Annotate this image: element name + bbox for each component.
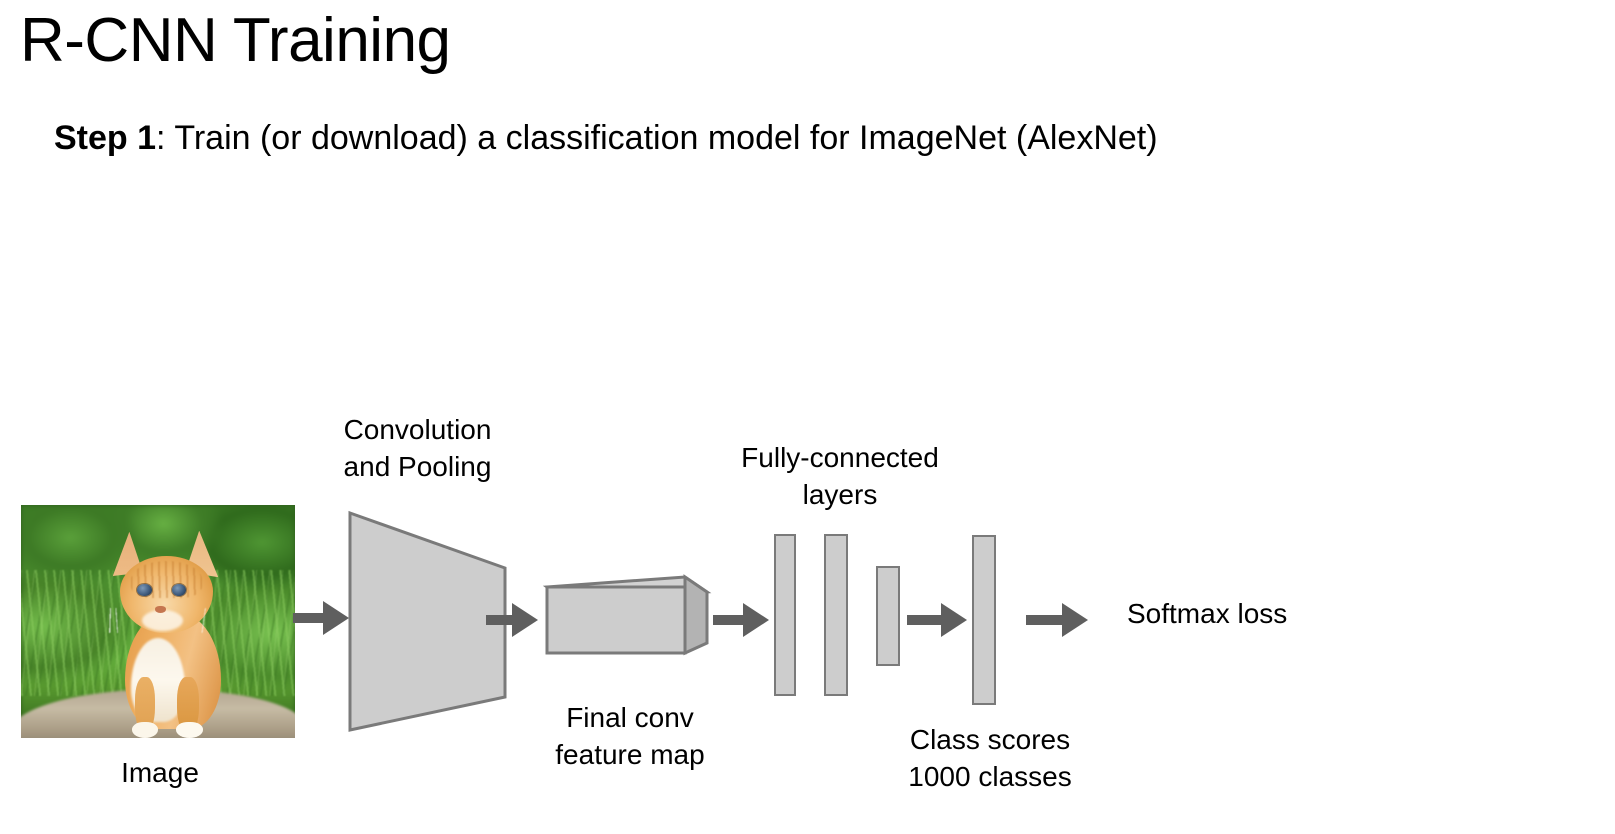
softmax-loss-label: Softmax loss	[1127, 598, 1287, 630]
arrow-shaft	[907, 615, 945, 625]
slide-subtitle: Step 1: Train (or download) a classifica…	[54, 118, 1158, 159]
arrow-shaft	[713, 615, 747, 625]
arrow-head	[1062, 603, 1088, 637]
arrow-head	[941, 603, 967, 637]
trapezoid-shape	[350, 513, 505, 730]
arrow-conv-to-featuremap-icon	[486, 603, 538, 637]
kitten-eye-right	[172, 584, 186, 596]
conv-pool-trapezoid	[330, 500, 510, 740]
class-scores-bar	[972, 535, 996, 705]
kitten-paw-left	[132, 722, 158, 738]
slide-subtitle-bold: Step 1	[54, 119, 156, 157]
arrow-shaft	[1026, 615, 1066, 625]
kitten-paw-right	[176, 722, 203, 738]
arrow-head	[743, 603, 769, 637]
kitten-eye-left	[137, 584, 151, 596]
box-right-face	[685, 577, 707, 653]
slide-subtitle-rest: : Train (or download) a classification m…	[156, 119, 1158, 157]
arrow-fc-to-classscores-icon	[907, 603, 967, 637]
page-title: R-CNN Training	[20, 8, 451, 73]
label-final-conv-feature-map: Final conv feature map	[505, 700, 755, 774]
final-conv-feature-map-box	[535, 565, 720, 660]
label-fully-connected-layers: Fully-connected layers	[705, 440, 975, 514]
box-front-face	[547, 587, 685, 653]
arrow-classscores-to-softmax-icon	[1026, 603, 1088, 637]
label-image: Image	[60, 755, 260, 792]
fc-layer-bar-1	[774, 534, 796, 696]
label-class-scores: Class scores 1000 classes	[860, 722, 1120, 796]
label-convolution-and-pooling: Convolution and Pooling	[300, 412, 535, 486]
fc-layer-bar-3	[876, 566, 900, 666]
kitten-figure	[21, 505, 295, 738]
input-image-thumbnail	[21, 505, 295, 738]
arrow-shaft	[293, 613, 327, 623]
fc-layer-bar-2	[824, 534, 848, 696]
arrow-featuremap-to-fc-icon	[713, 603, 769, 637]
